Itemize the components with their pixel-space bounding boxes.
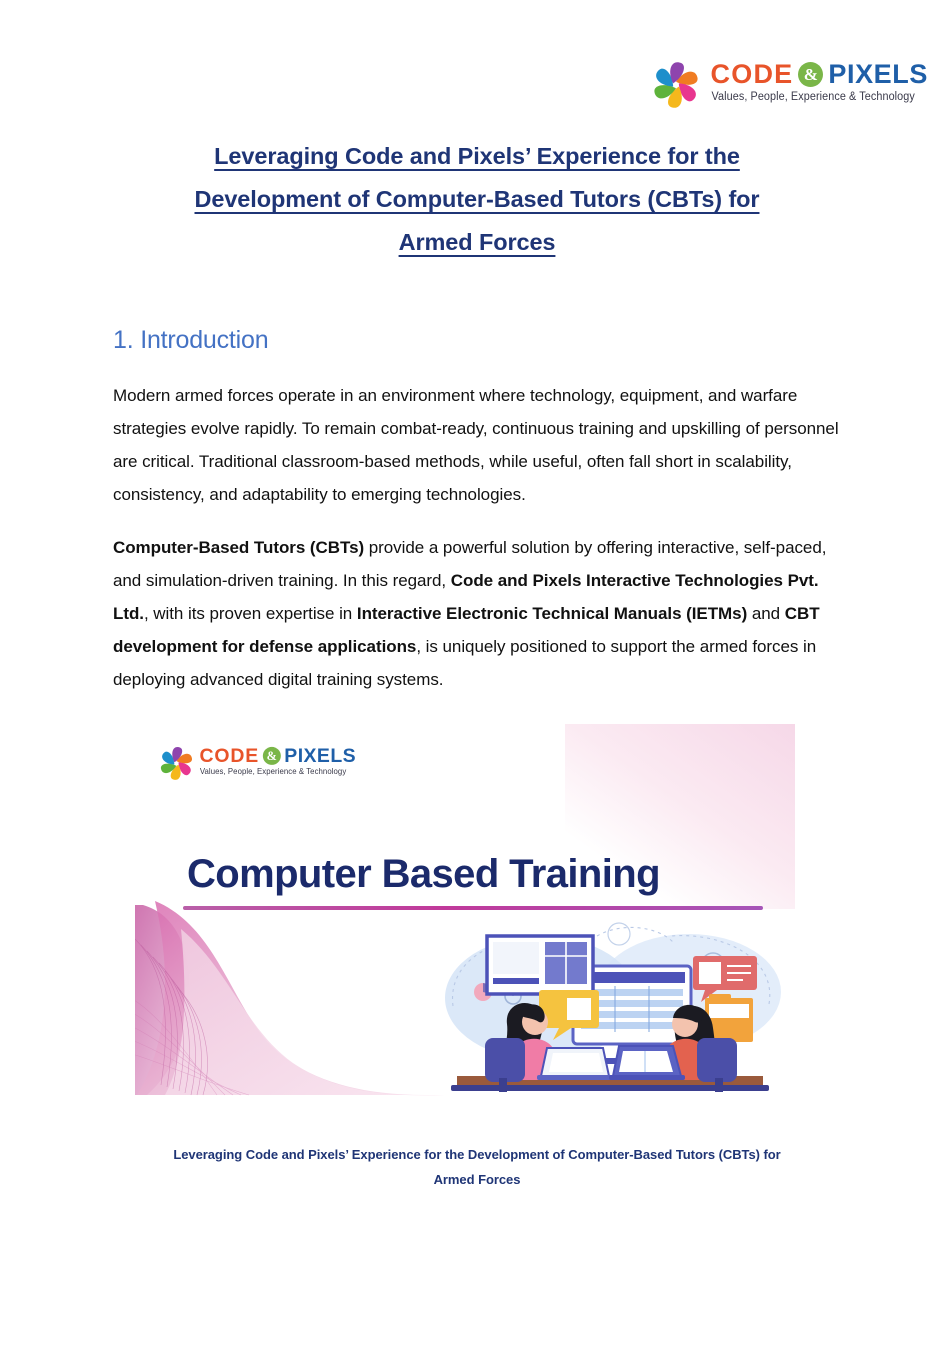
banner-pinwheel-logo-mark: [157, 744, 196, 783]
pinwheel-logo-mark: [649, 58, 703, 112]
paragraph-intro-2: Computer-Based Tutors (CBTs) provide a p…: [113, 531, 841, 696]
banner-logo-wordmark: CODE & PIXELS: [199, 746, 356, 765]
page-title-line-3: Armed Forces: [399, 229, 556, 255]
bold-ietms: Interactive Electronic Technical Manuals…: [357, 604, 747, 623]
logo-wordmark: CODE & PIXELS: [711, 61, 928, 88]
cbt-training-illustration: [421, 920, 795, 1096]
text-segment-2: , with its proven expertise in: [144, 604, 357, 623]
banner-logo-pixels-text: PIXELS: [284, 746, 356, 765]
banner-logo-ampersand-badge: &: [263, 747, 281, 765]
section-heading-introduction: 1. Introduction: [113, 326, 841, 355]
document-body: Leveraging Code and Pixels’ Experience f…: [113, 135, 841, 1192]
figure-caption: Leveraging Code and Pixels’ Experience f…: [113, 1142, 841, 1192]
logo-tagline: Values, People, Experience & Technology: [711, 91, 915, 103]
banner-logo-text-block: CODE & PIXELS Values, People, Experience…: [199, 744, 356, 776]
pink-ribbon-waves-decoration: [135, 899, 455, 1096]
bold-computer-based-tutors: Computer-Based Tutors (CBTs): [113, 538, 364, 557]
banner-logo-code-text: CODE: [199, 746, 259, 765]
logo-text-block: CODE & PIXELS Values, People, Experience…: [711, 58, 928, 103]
logo-code-text: CODE: [711, 61, 794, 88]
banner-image: CODE & PIXELS Values, People, Experience…: [135, 724, 795, 1096]
banner-logo: CODE & PIXELS Values, People, Experience…: [157, 744, 356, 783]
logo-ampersand-badge: &: [798, 62, 823, 87]
page-title: Leveraging Code and Pixels’ Experience f…: [113, 135, 841, 264]
text-segment-3: and: [747, 604, 785, 623]
paragraph-intro-1: Modern armed forces operate in an enviro…: [113, 379, 841, 511]
page-title-line-1: Leveraging Code and Pixels’ Experience f…: [214, 143, 740, 169]
logo-pixels-text: PIXELS: [828, 61, 928, 88]
figure-computer-based-training: CODE & PIXELS Values, People, Experience…: [113, 724, 841, 1192]
banner-logo-tagline: Values, People, Experience & Technology: [199, 768, 346, 777]
page-title-line-2: Development of Computer-Based Tutors (CB…: [195, 186, 760, 212]
banner-headline: Computer Based Training: [187, 852, 660, 897]
header-logo: CODE & PIXELS Values, People, Experience…: [649, 58, 928, 112]
